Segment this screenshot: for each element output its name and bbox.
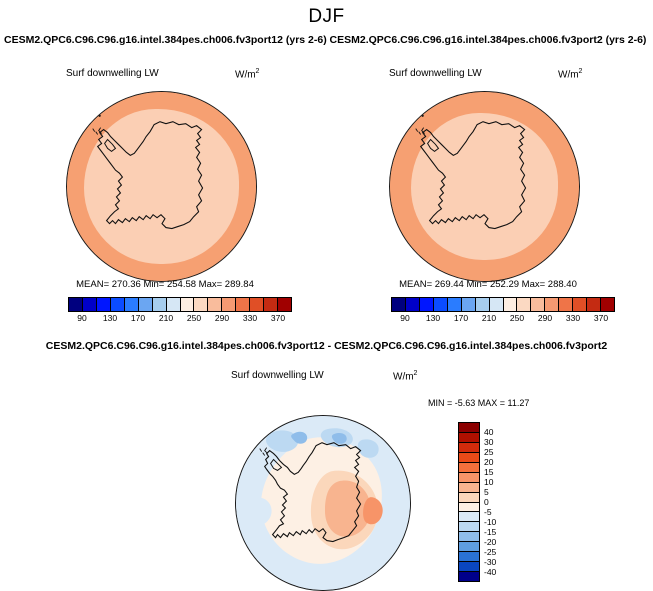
cbar-cell <box>459 542 479 552</box>
cbar-cell <box>448 298 462 311</box>
diff-variable-label: Surf downwelling LW <box>231 370 324 381</box>
cbar-tick: -5 <box>484 507 492 517</box>
right-units-text: W/m <box>558 69 579 80</box>
right-colorbar: 90 130 170 210 250 290 330 370 <box>391 297 615 326</box>
season-title: DJF <box>0 6 653 28</box>
cbar-tick: 40 <box>484 427 493 437</box>
cbar-cell <box>236 298 250 311</box>
cbar-cell <box>181 298 195 311</box>
cbar-tick: 370 <box>594 313 608 323</box>
cbar-tick: -25 <box>484 547 496 557</box>
cbar-tick: 250 <box>187 313 201 323</box>
cbar-cell <box>459 572 479 581</box>
difference-panel-title: CESM2.QPC6.C96.C96.g16.intel.384pes.ch00… <box>0 340 653 352</box>
cbar-tick: 5 <box>484 487 489 497</box>
cbar-cell <box>459 483 479 493</box>
cbar-cell <box>459 493 479 503</box>
cbar-tick: 90 <box>77 313 86 323</box>
cbar-tick: 290 <box>215 313 229 323</box>
cbar-cell <box>278 298 291 311</box>
cbar-cell <box>194 298 208 311</box>
diff-colorbar: 40 30 25 20 15 10 5 0 -5 -10 -15 -20 -25… <box>458 422 518 582</box>
cbar-cell <box>517 298 531 311</box>
cbar-cell <box>83 298 97 311</box>
cbar-tick: 25 <box>484 447 493 457</box>
cbar-cell <box>459 453 479 463</box>
right-panel: Surf downwelling LW W/m2 MEAN= 269.44 Mi… <box>327 60 649 325</box>
cbar-tick: 30 <box>484 437 493 447</box>
left-map-globe <box>66 91 257 282</box>
right-map-globe <box>389 91 580 282</box>
cbar-cell <box>587 298 601 311</box>
cbar-cell <box>531 298 545 311</box>
right-coastline <box>390 92 579 281</box>
cbar-cell <box>420 298 434 311</box>
right-units-exponent: 2 <box>579 68 583 75</box>
diff-units-label: W/m2 <box>393 370 417 382</box>
left-stats: MEAN= 270.36 Min= 254.58 Max= 289.84 <box>4 279 326 290</box>
cbar-cell <box>139 298 153 311</box>
diff-units-text: W/m <box>393 371 414 382</box>
cbar-cell <box>222 298 236 311</box>
left-colorbar: 90 130 170 210 250 290 330 370 <box>68 297 292 326</box>
cbar-cell <box>111 298 125 311</box>
cbar-tick: -30 <box>484 557 496 567</box>
cbar-tick: 330 <box>243 313 257 323</box>
left-variable-label: Surf downwelling LW <box>66 68 159 79</box>
cbar-cell <box>264 298 278 311</box>
right-colorbar-swatches <box>391 297 615 312</box>
cbar-cell <box>392 298 406 311</box>
cbar-tick: 10 <box>484 477 493 487</box>
cbar-cell <box>125 298 139 311</box>
difference-panel: Surf downwelling LW W/m2 MIN = -5.63 MAX… <box>0 360 653 583</box>
cbar-tick: 290 <box>538 313 552 323</box>
cbar-cell <box>601 298 614 311</box>
cbar-cell <box>573 298 587 311</box>
cbar-cell <box>476 298 490 311</box>
diff-shading-and-coastline <box>236 416 410 590</box>
cbar-cell <box>459 512 479 522</box>
right-units-label: W/m2 <box>558 68 582 80</box>
cbar-cell <box>545 298 559 311</box>
cbar-tick: 370 <box>271 313 285 323</box>
cbar-cell <box>459 552 479 562</box>
diff-colorbar-swatches <box>458 422 480 582</box>
cbar-cell <box>434 298 448 311</box>
cbar-tick: 15 <box>484 467 493 477</box>
right-panel-title: CESM2.QPC6.C96.C96.g16.intel.384pes.ch00… <box>327 34 649 46</box>
cbar-tick: 170 <box>131 313 145 323</box>
left-units-label: W/m2 <box>235 68 259 80</box>
cbar-tick: 0 <box>484 497 489 507</box>
cbar-cell <box>504 298 518 311</box>
cbar-cell <box>459 463 479 473</box>
right-variable-label: Surf downwelling LW <box>389 68 482 79</box>
left-colorbar-tick-labels: 90 130 170 210 250 290 330 370 <box>68 312 292 326</box>
cbar-cell <box>459 423 479 433</box>
left-units-exponent: 2 <box>256 68 260 75</box>
cbar-tick: 330 <box>566 313 580 323</box>
cbar-tick: 130 <box>426 313 440 323</box>
left-colorbar-swatches <box>68 297 292 312</box>
left-units-text: W/m <box>235 69 256 80</box>
left-panel: Surf downwelling LW W/m2 MEAN= 270.36 Mi… <box>4 60 326 325</box>
cbar-tick: -40 <box>484 567 496 577</box>
right-colorbar-tick-labels: 90 130 170 210 250 290 330 370 <box>391 312 615 326</box>
cbar-tick: 210 <box>159 313 173 323</box>
cbar-cell <box>459 532 479 542</box>
cbar-cell <box>459 503 479 513</box>
cbar-cell <box>69 298 83 311</box>
cbar-tick: 210 <box>482 313 496 323</box>
diff-map-globe <box>235 415 411 591</box>
cbar-cell <box>459 473 479 483</box>
cbar-tick: -10 <box>484 517 496 527</box>
cbar-cell <box>459 433 479 443</box>
diff-units-exponent: 2 <box>414 370 418 377</box>
cbar-cell <box>208 298 222 311</box>
left-panel-title: CESM2.QPC6.C96.C96.g16.intel.384pes.ch00… <box>4 34 326 46</box>
cbar-tick: -15 <box>484 527 496 537</box>
cbar-cell <box>559 298 573 311</box>
cbar-cell <box>490 298 504 311</box>
right-stats: MEAN= 269.44 Min= 252.29 Max= 288.40 <box>327 279 649 290</box>
cbar-cell <box>459 562 479 572</box>
cbar-cell <box>167 298 181 311</box>
cbar-cell <box>97 298 111 311</box>
cbar-cell <box>250 298 264 311</box>
cbar-cell <box>462 298 476 311</box>
diff-minmax-label: MIN = -5.63 MAX = 11.27 <box>428 398 529 408</box>
cbar-cell <box>459 443 479 453</box>
cbar-cell <box>459 522 479 532</box>
cbar-tick: 20 <box>484 457 493 467</box>
cbar-tick: 90 <box>400 313 409 323</box>
cbar-tick: -20 <box>484 537 496 547</box>
cbar-cell <box>406 298 420 311</box>
cbar-tick: 170 <box>454 313 468 323</box>
cbar-tick: 250 <box>510 313 524 323</box>
cbar-tick: 130 <box>103 313 117 323</box>
cbar-cell <box>153 298 167 311</box>
left-coastline <box>67 92 256 281</box>
